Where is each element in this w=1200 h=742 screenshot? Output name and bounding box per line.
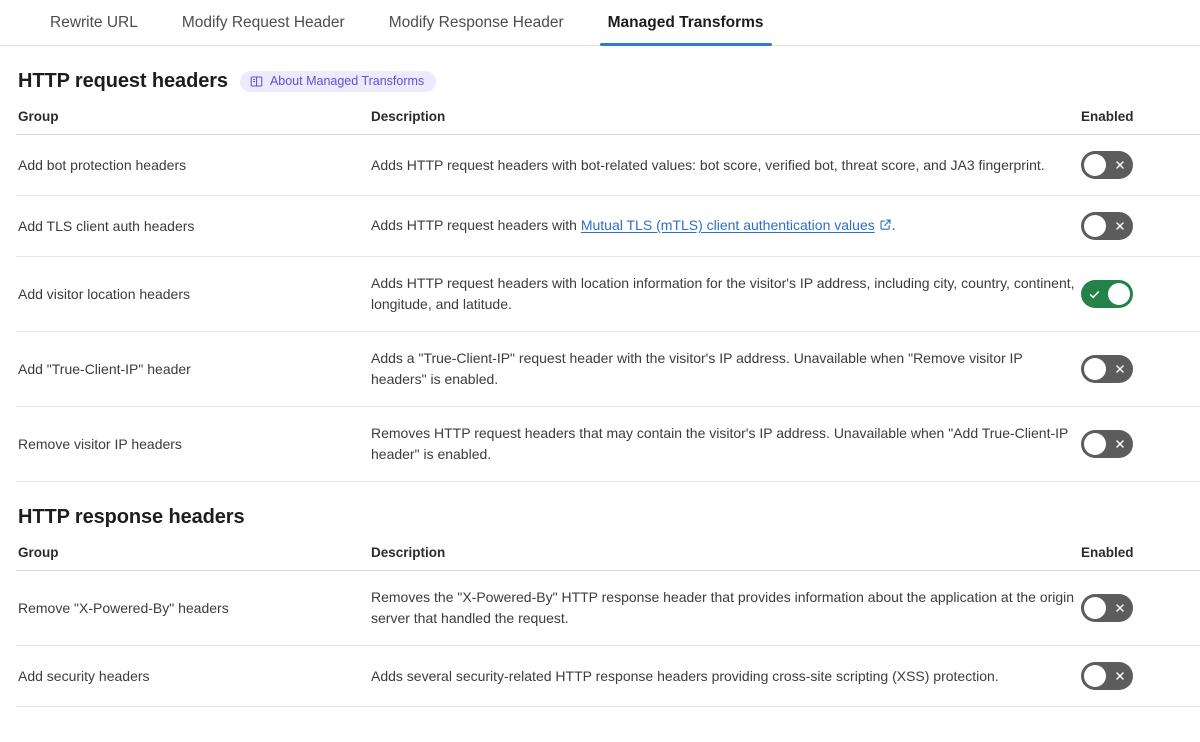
column-header-enabled: Enabled (1081, 103, 1200, 135)
managed-transforms-table: GroupDescriptionEnabledAdd bot protectio… (16, 103, 1200, 482)
column-header-group: Group (16, 539, 371, 571)
table-row: Add visitor location headersAdds HTTP re… (16, 257, 1200, 332)
row-group-name: Add bot protection headers (16, 135, 371, 196)
toggle-knob (1084, 433, 1106, 455)
page-content: HTTP request headersAbout Managed Transf… (0, 46, 1200, 707)
row-description: Adds a "True-Client-IP" request header w… (371, 332, 1081, 407)
row-group-name: Remove "X-Powered-By" headers (16, 571, 371, 646)
badge-label: About Managed Transforms (270, 75, 424, 88)
toggle-knob (1084, 215, 1106, 237)
mtls-documentation-link[interactable]: Mutual TLS (mTLS) client authentication … (581, 217, 875, 233)
toggle-knob (1084, 665, 1106, 687)
external-link-icon (879, 216, 892, 237)
column-header-description: Description (371, 539, 1081, 571)
managed-transforms-table: GroupDescriptionEnabledRemove "X-Powered… (16, 539, 1200, 707)
toggle-knob (1084, 597, 1106, 619)
about-managed-transforms-badge[interactable]: About Managed Transforms (240, 71, 436, 92)
enabled-toggle[interactable] (1081, 662, 1133, 690)
enabled-toggle[interactable] (1081, 212, 1133, 240)
toggle-knob (1084, 358, 1106, 380)
table-row: Add "True-Client-IP" headerAdds a "True-… (16, 332, 1200, 407)
row-enabled-cell (1081, 571, 1200, 646)
section-http-request-headers: HTTP request headersAbout Managed Transf… (16, 46, 1184, 482)
enabled-toggle[interactable] (1081, 280, 1133, 308)
column-header-description: Description (371, 103, 1081, 135)
section-http-response-headers: HTTP response headersGroupDescriptionEna… (16, 482, 1184, 707)
tab-modify-response-header[interactable]: Modify Response Header (367, 0, 586, 45)
cross-icon (1107, 662, 1133, 690)
table-row: Add bot protection headersAdds HTTP requ… (16, 135, 1200, 196)
cross-icon (1107, 151, 1133, 179)
tab-modify-request-header[interactable]: Modify Request Header (160, 0, 367, 45)
table-row: Add TLS client auth headersAdds HTTP req… (16, 196, 1200, 257)
section-header: HTTP response headers (16, 482, 1184, 539)
tab-rewrite-url[interactable]: Rewrite URL (28, 0, 160, 45)
table-header-row: GroupDescriptionEnabled (16, 103, 1200, 135)
check-icon (1081, 280, 1107, 308)
enabled-toggle[interactable] (1081, 430, 1133, 458)
cross-icon (1107, 212, 1133, 240)
enabled-toggle[interactable] (1081, 355, 1133, 383)
tab-bar: Rewrite URLModify Request HeaderModify R… (0, 0, 1200, 46)
toggle-knob (1084, 154, 1106, 176)
table-row: Add security headersAdds several securit… (16, 646, 1200, 707)
row-enabled-cell (1081, 196, 1200, 257)
row-description: Adds HTTP request headers with bot-relat… (371, 135, 1081, 196)
description-text-before: Adds HTTP request headers with (371, 217, 581, 233)
book-icon (250, 75, 263, 88)
row-group-name: Add "True-Client-IP" header (16, 332, 371, 407)
row-enabled-cell (1081, 135, 1200, 196)
table-row: Remove "X-Powered-By" headersRemoves the… (16, 571, 1200, 646)
cross-icon (1107, 594, 1133, 622)
cross-icon (1107, 355, 1133, 383)
row-description: Removes HTTP request headers that may co… (371, 407, 1081, 482)
row-enabled-cell (1081, 407, 1200, 482)
table-row: Remove visitor IP headersRemoves HTTP re… (16, 407, 1200, 482)
enabled-toggle[interactable] (1081, 594, 1133, 622)
row-description: Adds HTTP request headers with Mutual TL… (371, 196, 1081, 257)
row-enabled-cell (1081, 257, 1200, 332)
row-description: Removes the "X-Powered-By" HTTP response… (371, 571, 1081, 646)
column-header-group: Group (16, 103, 371, 135)
description-text-after: . (892, 217, 896, 233)
enabled-toggle[interactable] (1081, 151, 1133, 179)
row-group-name: Remove visitor IP headers (16, 407, 371, 482)
section-title: HTTP response headers (18, 506, 245, 529)
column-header-enabled: Enabled (1081, 539, 1200, 571)
row-group-name: Add visitor location headers (16, 257, 371, 332)
section-title: HTTP request headers (18, 70, 228, 93)
row-enabled-cell (1081, 646, 1200, 707)
toggle-knob (1108, 283, 1130, 305)
tab-managed-transforms[interactable]: Managed Transforms (586, 0, 786, 45)
cross-icon (1107, 430, 1133, 458)
row-group-name: Add security headers (16, 646, 371, 707)
row-group-name: Add TLS client auth headers (16, 196, 371, 257)
section-header: HTTP request headersAbout Managed Transf… (16, 46, 1184, 103)
row-description: Adds HTTP request headers with location … (371, 257, 1081, 332)
row-description: Adds several security-related HTTP respo… (371, 646, 1081, 707)
row-enabled-cell (1081, 332, 1200, 407)
table-header-row: GroupDescriptionEnabled (16, 539, 1200, 571)
